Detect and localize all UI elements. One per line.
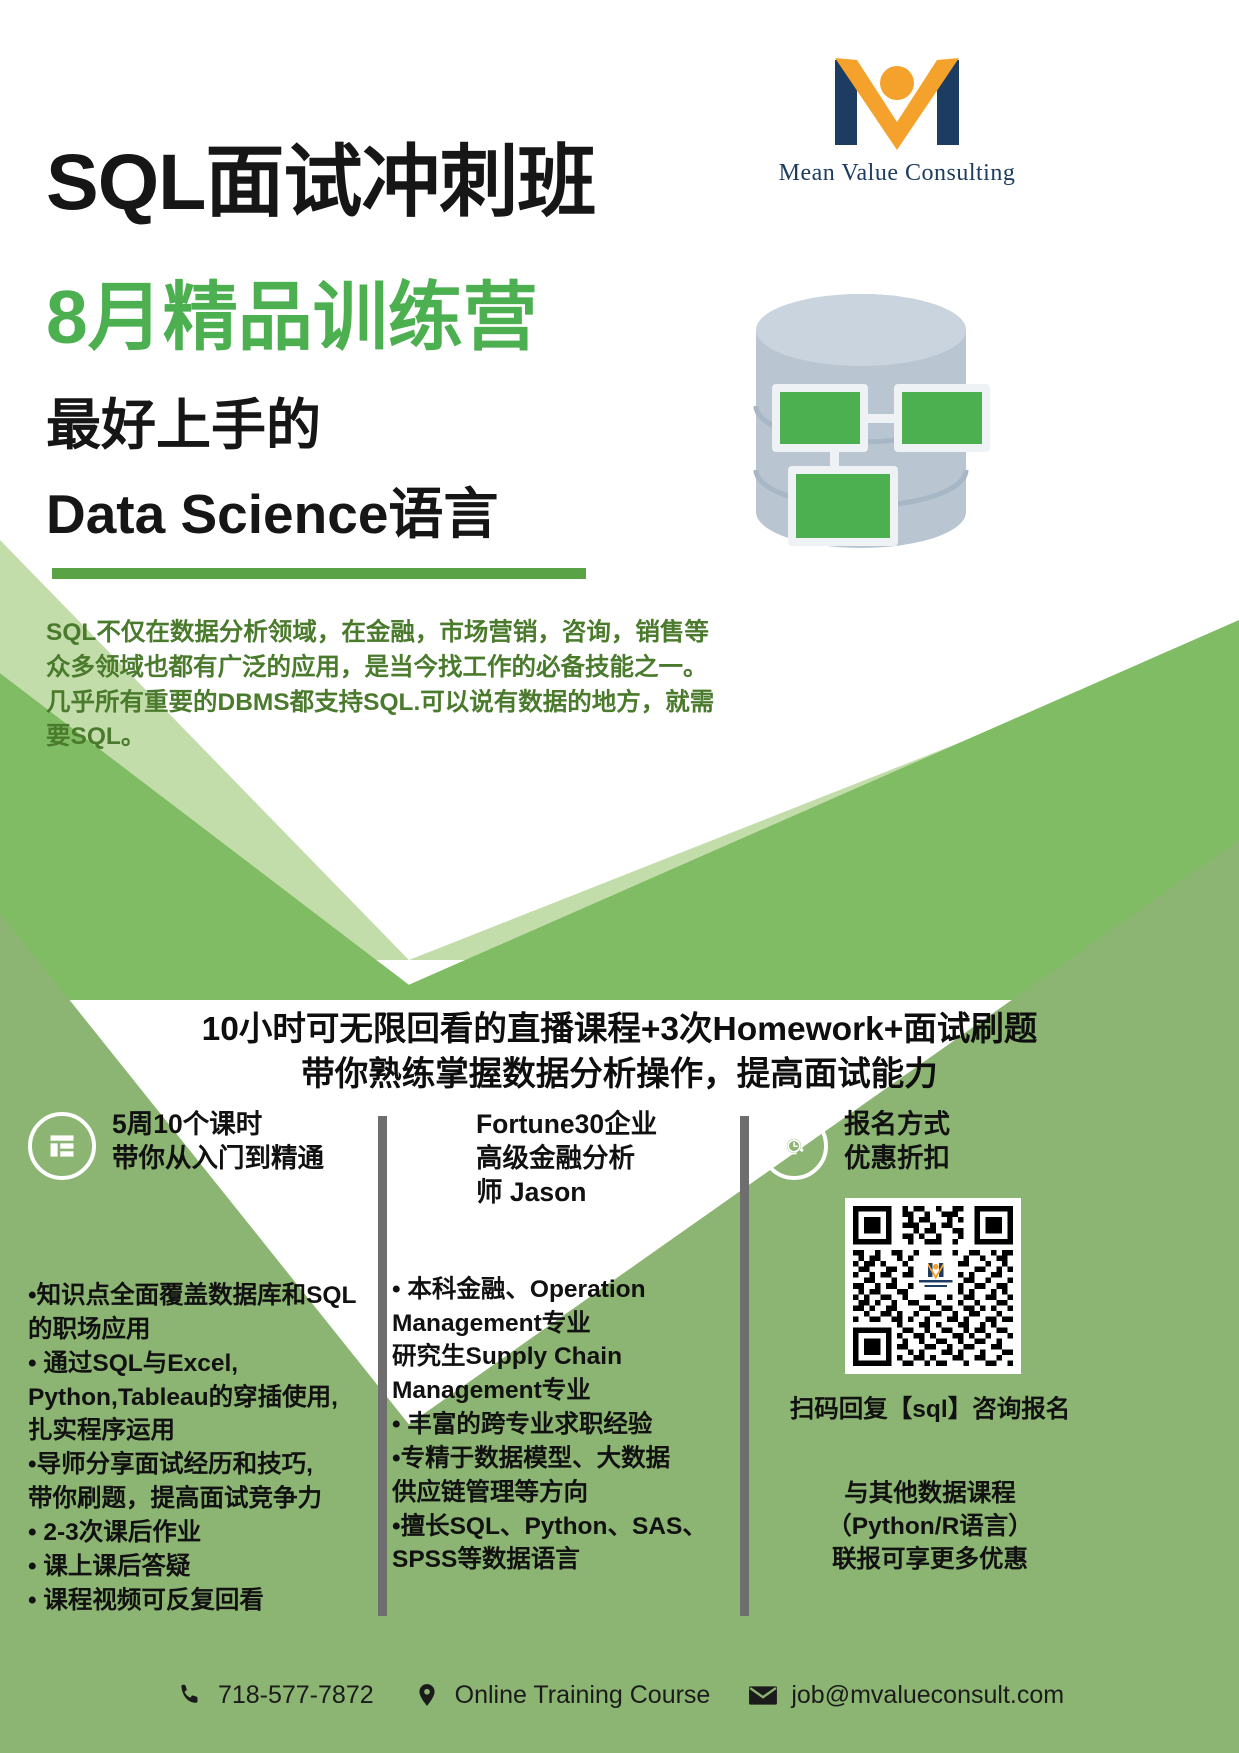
location-text: Online Training Course (455, 1681, 711, 1710)
phone-number: 718-577-7872 (218, 1681, 374, 1710)
promo-line-3: 联报可享更多优惠 (760, 1544, 1100, 1577)
list-item: •导师分享面试经历和技巧, (28, 1449, 373, 1481)
database-cylinder-icon (726, 288, 996, 568)
column-course-details: 5周10个课时 带你从入门到精通 •知识点全面覆盖数据库和SQL 的职场应用 •… (28, 1108, 373, 1618)
list-item: •知识点全面覆盖数据库和SQL (28, 1280, 373, 1312)
list-item: Management专业 (392, 1308, 732, 1340)
column2-title-line3: 师 Jason (476, 1176, 657, 1210)
qr-code-image (853, 1206, 1013, 1366)
list-item: 扎实程序运用 (28, 1415, 373, 1447)
qr-caption: 扫码回复【sql】咨询报名 (760, 1390, 1100, 1425)
contact-location[interactable]: Online Training Course (412, 1680, 711, 1710)
list-item: 供应链管理等方向 (392, 1477, 732, 1509)
list-item: 带你刷题，提高面试竞争力 (28, 1483, 373, 1515)
promo-line-1: 与其他数据课程 (760, 1478, 1100, 1511)
column-divider-2 (740, 1116, 749, 1616)
column-divider-1 (378, 1116, 387, 1616)
page-subtitle-green: 8月精品训练营 (46, 280, 538, 355)
qr-code[interactable] (845, 1198, 1021, 1374)
list-item: Management专业 (392, 1375, 732, 1407)
promo-line-2: （Python/R语言） (760, 1511, 1100, 1544)
column1-bullets: •知识点全面覆盖数据库和SQL 的职场应用 • 通过SQL与Excel, Pyt… (28, 1280, 373, 1616)
column2-title-line2: 高级金融分析 (476, 1142, 657, 1176)
column2-title-line1: Fortune30企业 (476, 1108, 657, 1142)
list-item: 研究生Supply Chain (392, 1341, 732, 1373)
contact-phone[interactable]: 718-577-7872 (175, 1680, 374, 1710)
feature-columns: 5周10个课时 带你从入门到精通 •知识点全面覆盖数据库和SQL 的职场应用 •… (0, 1108, 1239, 1628)
list-item: • 丰富的跨专业求职经验 (392, 1409, 732, 1441)
list-item: 的职场应用 (28, 1314, 373, 1346)
headline-line-1: 10小时可无限回看的直播课程+3次Homework+面试刷题 (0, 1008, 1239, 1053)
intro-paragraph: SQL不仅在数据分析领域，在金融，市场营销，咨询，销售等众多领域也都有广泛的应用… (46, 616, 726, 755)
logo-wordmark: Mean Value Consulting (752, 160, 1042, 187)
column1-title-line2: 带你从入门到精通 (112, 1142, 324, 1176)
page-title: SQL面试冲刺班 (46, 142, 595, 221)
promo-note: 与其他数据课程 （Python/R语言） 联报可享更多优惠 (760, 1478, 1100, 1576)
email-address: job@mvalueconsult.com (791, 1681, 1064, 1710)
column2-header: Fortune30企业 高级金融分析 师 Jason (392, 1108, 732, 1210)
page-tagline-line1: 最好上手的 (46, 398, 321, 453)
column2-bullets: • 本科金融、Operation Management专业 研究生Supply … (392, 1274, 732, 1577)
list-item: • 通过SQL与Excel, (28, 1348, 373, 1380)
column-signup: 报名方式 优惠折扣 (760, 1108, 1220, 1180)
list-item: •专精于数据模型、大数据 (392, 1443, 732, 1475)
page-tagline-line2: Data Science语言 (46, 487, 498, 542)
list-item: • 本科金融、Operation (392, 1274, 732, 1306)
contact-footer: 718-577-7872 Online Training Course job@… (0, 1671, 1239, 1719)
brand-logo: Mean Value Consulting (752, 50, 1042, 200)
column3-title-line1: 报名方式 (844, 1108, 950, 1142)
poster-root: Mean Value Consulting SQL面试冲刺班 8月精品训练营 最… (0, 0, 1239, 1753)
list-item: • 课程视频可反复回看 (28, 1585, 373, 1617)
location-pin-icon (412, 1680, 442, 1710)
column2-title: Fortune30企业 高级金融分析 师 Jason (476, 1108, 657, 1210)
column3-title-line2: 优惠折扣 (844, 1142, 950, 1176)
list-item: Python,Tableau的穿插使用, (28, 1382, 373, 1414)
list-item: • 课上课后答疑 (28, 1551, 373, 1583)
headline-line-2: 带你熟练掌握数据分析操作，提高面试能力 (0, 1053, 1239, 1098)
column1-title: 5周10个课时 带你从入门到精通 (112, 1108, 324, 1176)
title-underline-rule (52, 568, 586, 579)
column1-title-line1: 5周10个课时 (112, 1108, 324, 1142)
phone-icon (175, 1680, 205, 1710)
user-person-icon (392, 1112, 460, 1180)
contact-email[interactable]: job@mvalueconsult.com (748, 1680, 1064, 1710)
list-item: SPSS等数据语言 (392, 1544, 732, 1576)
list-item: •擅长SQL、Python、SAS、 (392, 1511, 732, 1543)
gear-clock-icon (760, 1112, 828, 1180)
list-item: • 2-3次课后作业 (28, 1517, 373, 1549)
column3-title: 报名方式 优惠折扣 (844, 1108, 950, 1176)
column1-header: 5周10个课时 带你从入门到精通 (28, 1108, 373, 1180)
column3-header: 报名方式 优惠折扣 (760, 1108, 1220, 1180)
envelope-icon (748, 1680, 778, 1710)
main-headline: 10小时可无限回看的直播课程+3次Homework+面试刷题 带你熟练掌握数据分… (0, 1008, 1239, 1098)
layout-dashboard-icon (28, 1112, 96, 1180)
logo-mark-icon (827, 50, 967, 155)
column-instructor: Fortune30企业 高级金融分析 师 Jason • 本科金融、Operat… (392, 1108, 732, 1578)
